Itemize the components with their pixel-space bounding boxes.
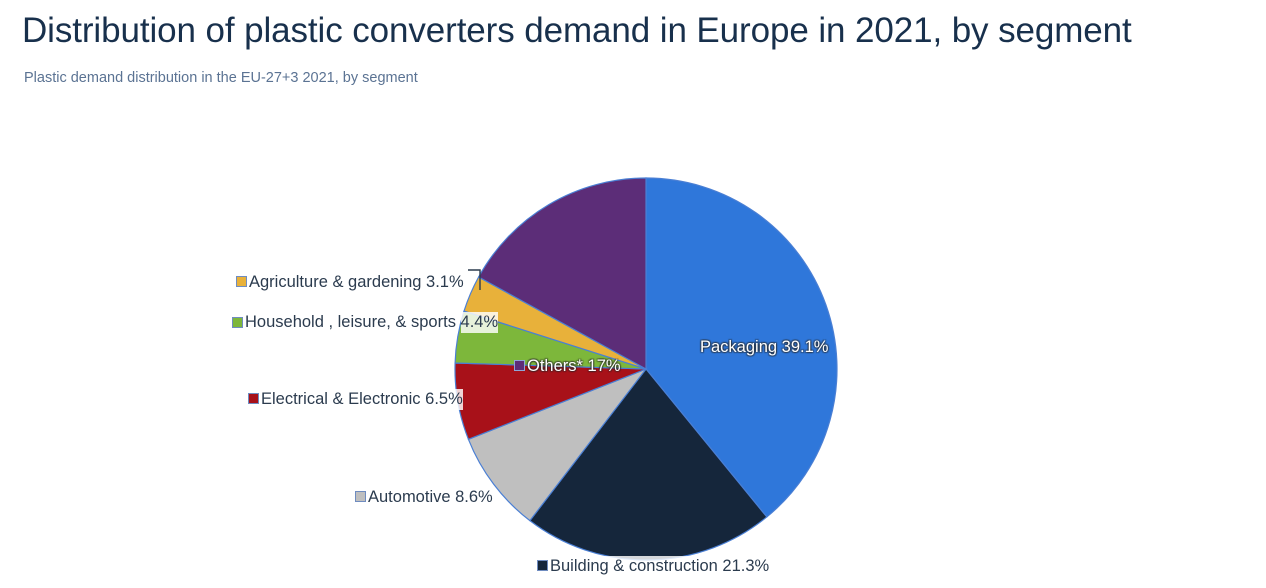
pie-label-household-leisure-sports-text: Household , leisure, & sports — [245, 312, 456, 333]
pie-label-agriculture-gardening-text: Agriculture & gardening 3.1% — [249, 272, 464, 293]
pie-label-household-leisure-sports-value: 4.4% — [461, 312, 499, 333]
pie-slice-group — [455, 178, 837, 560]
agriculture-gardening-swatch — [236, 276, 247, 287]
pie-label-household-leisure-sports: Household , leisure, & sports 4.4% — [232, 312, 460, 333]
pie-label-agriculture-gardening: Agriculture & gardening 3.1% — [236, 272, 464, 293]
pie-label-electrical-electronic-text: Electrical & Electronic 6.5% — [261, 389, 463, 410]
pie-label-automotive: Automotive 8.6% — [355, 487, 493, 508]
electrical-electronic-swatch — [248, 393, 259, 404]
pie-label-packaging-text: Packaging 39.1% — [700, 337, 828, 358]
pie-label-automotive-text: Automotive 8.6% — [368, 487, 493, 508]
pie-label-electrical-electronic: Electrical & Electronic 6.5% — [248, 389, 463, 410]
others-swatch — [514, 360, 525, 371]
pie-label-building-construction-text: Building & construction 21.3% — [550, 556, 769, 577]
automotive-swatch — [355, 491, 366, 502]
pie-label-packaging: Packaging 39.1% — [700, 337, 828, 358]
pie-chart: Others* 17% Packaging 39.1% Building & c… — [0, 100, 1266, 588]
building-construction-swatch — [537, 560, 548, 571]
pie-chart-svg — [0, 100, 1266, 588]
pie-label-others: Others* 17% — [514, 356, 621, 377]
page-title: Distribution of plastic converters deman… — [22, 8, 1132, 54]
pie-label-others-text: Others* 17% — [527, 356, 621, 377]
page-subtitle: Plastic demand distribution in the EU-27… — [24, 68, 418, 88]
household-leisure-sports-swatch — [232, 317, 243, 328]
pie-label-building-construction: Building & construction 21.3% — [537, 556, 769, 577]
